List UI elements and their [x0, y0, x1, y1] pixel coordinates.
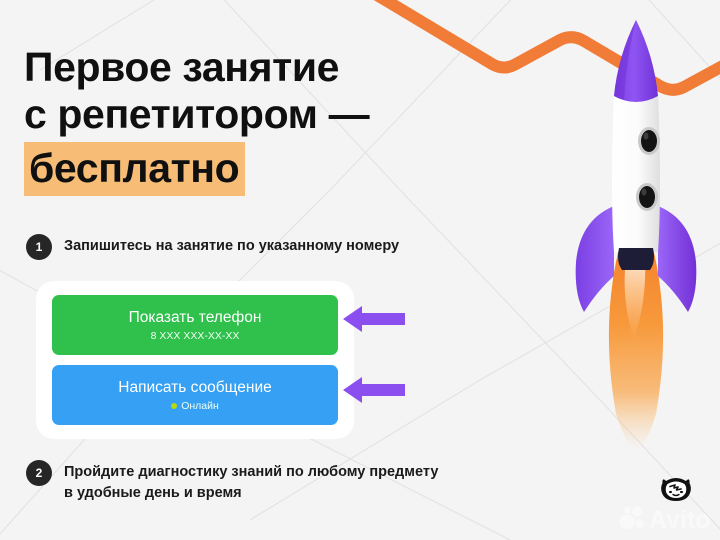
send-message-button[interactable]: Написать сообщение Онлайн [52, 365, 338, 425]
arrow-to-phone-button-icon [343, 304, 405, 334]
headline-line-1: Первое занятие [24, 44, 494, 91]
rocket-body [612, 94, 660, 252]
send-message-label: Написать сообщение [118, 378, 271, 397]
phone-number-text: 8 XXX XXX-XX-XX [151, 329, 240, 343]
avito-wordmark-text: Avito [649, 506, 711, 531]
step-2-number: 2 [26, 460, 52, 486]
step-1-number: 1 [26, 234, 52, 260]
rocket-porthole-lower [636, 183, 658, 211]
online-status-dot-icon [171, 403, 177, 409]
step-2-text: Пройдите диагностику знаний по любому пр… [64, 459, 438, 504]
headline-highlight-free: бесплатно [24, 142, 245, 196]
rocket-flame [609, 244, 663, 449]
step-2: 2 Пройдите диагностику знаний по любому … [26, 459, 438, 504]
rocket-porthole-upper [638, 127, 660, 155]
headline-line-2: с репетитором — [24, 91, 494, 138]
arrow-to-message-button-icon [343, 375, 405, 405]
phone-number-masked: 8 XXX XXX-XX-XX [151, 329, 240, 343]
cta-card: Показать телефон 8 XXX XXX-XX-XX Написат… [36, 281, 354, 439]
rocket-nose-cone [614, 20, 658, 102]
step-1-text: Запишитесь на занятие по указанному номе… [64, 233, 399, 257]
avito-bear-icon [659, 474, 693, 504]
avito-wordmark: Avito [619, 503, 711, 531]
rocket-nozzle [618, 248, 654, 270]
rocket-illustration [540, 0, 720, 464]
rocket-fins [576, 206, 697, 312]
headline: Первое занятие с репетитором — бесплатно [24, 44, 494, 196]
online-status: Онлайн [171, 399, 219, 413]
step-1: 1 Запишитесь на занятие по указанному но… [26, 233, 399, 260]
online-status-text: Онлайн [181, 399, 219, 413]
show-phone-button[interactable]: Показать телефон 8 XXX XXX-XX-XX [52, 295, 338, 355]
promo-poster: Первое занятие с репетитором — бесплатно… [0, 0, 720, 540]
show-phone-label: Показать телефон [129, 308, 262, 327]
